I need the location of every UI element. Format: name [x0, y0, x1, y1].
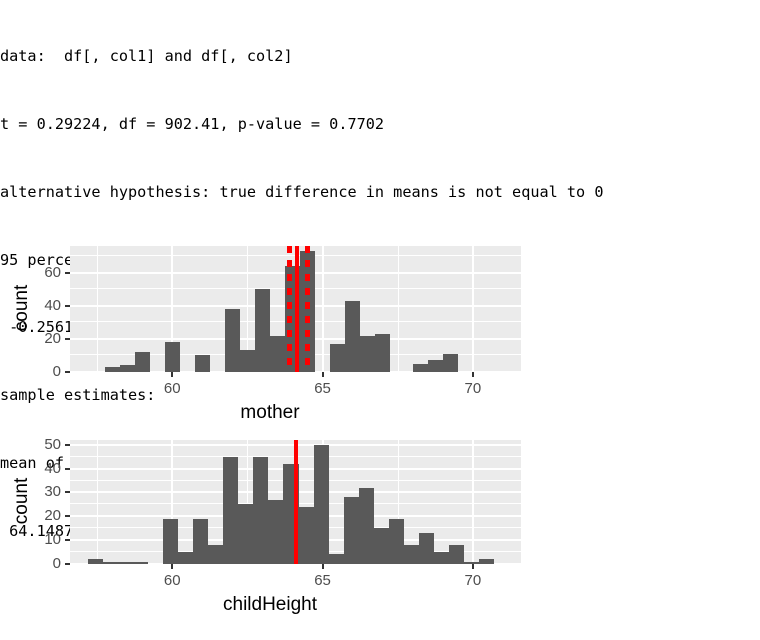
plot-stack: 0204060 606570 count mother 01020304050 …: [0, 232, 540, 640]
y-axis-tick-label: 20: [44, 507, 61, 524]
x-axis-tick: [322, 372, 324, 377]
x-axis-tick-label: 70: [448, 572, 498, 589]
histogram-bar: [223, 457, 238, 564]
ci-lower-line: [287, 246, 292, 372]
x-axis-tick-label: 65: [298, 572, 348, 589]
histogram-childheight: 01020304050 606570 count childHeight: [0, 428, 540, 640]
histogram-bar: [178, 552, 193, 564]
y-axis-tick: [65, 563, 70, 565]
histogram-bar: [268, 500, 283, 564]
gridline-vertical-minor: [97, 440, 98, 564]
histogram-bar: [413, 364, 428, 372]
gridline-vertical-minor: [97, 246, 98, 372]
histogram-bar: [443, 354, 458, 372]
histogram-bar: [103, 562, 118, 564]
histogram-bar: [329, 554, 344, 564]
y-axis-tick: [65, 468, 70, 470]
mean-line: [294, 440, 298, 564]
histogram-bar: [208, 545, 223, 564]
gridline-vertical-major: [472, 246, 474, 372]
y-axis-tick: [65, 272, 70, 274]
y-axis-title-mother: count: [11, 273, 33, 343]
histogram-bar: [404, 545, 419, 564]
x-axis-title-mother: mother: [0, 402, 540, 424]
x-axis-tick-label: 70: [448, 380, 498, 397]
x-axis-tick: [171, 372, 173, 377]
console-line-hypothesis: alternative hypothesis: true difference …: [0, 181, 760, 204]
y-axis-tick-label: 40: [44, 460, 61, 477]
mean-line: [295, 246, 299, 372]
histogram-bar: [449, 545, 464, 564]
y-axis-tick-label: 20: [44, 330, 61, 347]
histogram-bar: [270, 336, 285, 372]
ci-upper-line: [305, 246, 310, 372]
y-axis-tick: [65, 305, 70, 307]
histogram-bar: [255, 289, 270, 372]
histogram-bar: [389, 519, 404, 564]
histogram-bar: [163, 519, 178, 564]
y-axis-tick: [65, 444, 70, 446]
histogram-bar: [314, 445, 329, 564]
x-axis-title-childheight: childHeight: [0, 594, 540, 616]
histogram-bar: [419, 533, 434, 564]
y-axis-tick-label: 50: [44, 436, 61, 453]
console-line-data: data: df[, col1] and df[, col2]: [0, 45, 760, 68]
x-axis-tick: [322, 564, 324, 569]
histogram-bar: [359, 488, 374, 564]
histogram-bar: [118, 562, 133, 564]
histogram-bar: [428, 360, 443, 372]
histogram-bar: [375, 334, 390, 372]
y-axis-tick: [65, 515, 70, 517]
y-axis-tick-label: 60: [44, 264, 61, 281]
histogram-bar: [344, 497, 359, 564]
x-axis-tick-label: 60: [147, 572, 197, 589]
y-axis-tick: [65, 371, 70, 373]
histogram-bar: [253, 457, 268, 564]
y-axis-tick-label: 10: [44, 531, 61, 548]
plot-panel-childheight: [70, 440, 521, 564]
x-axis-tick: [171, 564, 173, 569]
y-axis-title-childheight: count: [11, 466, 33, 536]
histogram-bar: [135, 352, 150, 372]
console-line-tstat: t = 0.29224, df = 902.41, p-value = 0.77…: [0, 113, 760, 136]
histogram-bar: [120, 365, 135, 372]
histogram-bar: [238, 504, 253, 564]
histogram-bar: [240, 350, 255, 372]
x-axis-tick: [472, 372, 474, 377]
histogram-bar: [330, 344, 345, 372]
histogram-bar: [165, 342, 180, 372]
x-axis-tick: [472, 564, 474, 569]
histogram-bar: [193, 519, 208, 564]
histogram-bar: [105, 367, 120, 372]
histogram-bar: [299, 507, 314, 564]
histogram-bar: [360, 336, 375, 372]
x-axis-tick-label: 65: [298, 380, 348, 397]
y-axis-tick-label: 30: [44, 483, 61, 500]
gridline-vertical-major: [322, 246, 324, 372]
histogram-bar: [345, 301, 360, 372]
histogram-mother: 0204060 606570 count mother: [0, 232, 540, 422]
plot-panel-mother: [70, 246, 521, 372]
y-axis-tick: [65, 491, 70, 493]
histogram-bar: [374, 528, 389, 564]
gridline-vertical-major: [472, 440, 474, 564]
y-axis-tick: [65, 539, 70, 541]
y-axis-tick-label: 0: [53, 555, 61, 572]
histogram-bar: [479, 559, 494, 564]
histogram-bar: [133, 562, 148, 564]
histogram-bar: [434, 552, 449, 564]
histogram-bar: [88, 559, 103, 564]
y-axis-tick-label: 40: [44, 297, 61, 314]
gridline-vertical-minor: [398, 246, 399, 372]
x-axis-tick-label: 60: [147, 380, 197, 397]
y-axis-tick: [65, 338, 70, 340]
histogram-bar: [225, 309, 240, 372]
y-axis-tick-label: 0: [53, 363, 61, 380]
histogram-bar: [195, 355, 210, 372]
